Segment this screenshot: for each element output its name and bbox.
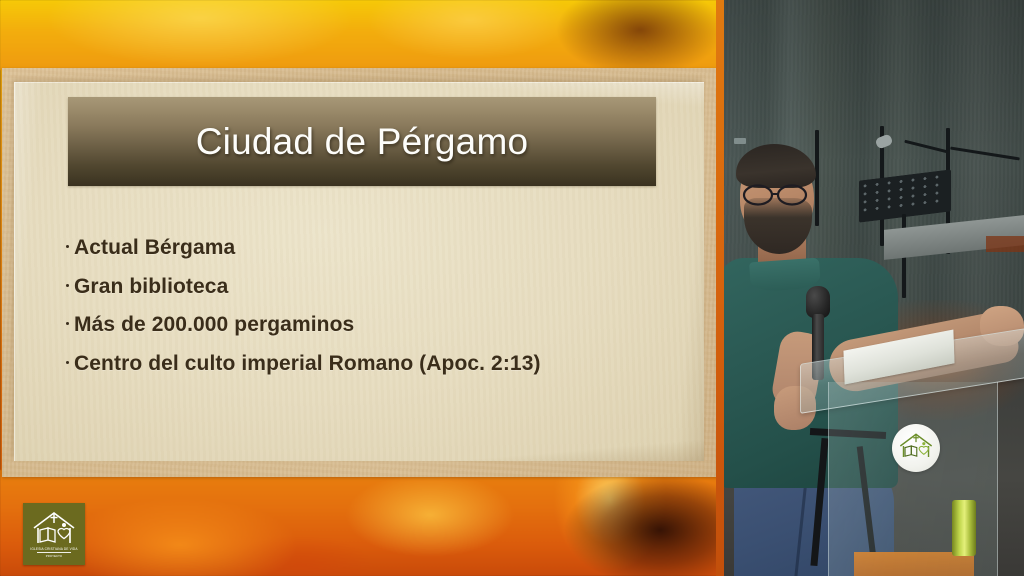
- fire-background-bottom-band: [0, 470, 718, 576]
- slide-title: Ciudad de Pérgamo: [196, 121, 529, 163]
- bullet-text: Gran biblioteca: [74, 275, 228, 299]
- logo-divider: [37, 552, 71, 553]
- list-item: Gran biblioteca: [60, 275, 660, 299]
- church-logo-name: IGLESIA CRISTIANA DE VIDA: [30, 547, 77, 551]
- bullet-dot-icon: [60, 352, 74, 372]
- fire-background-top-band: [0, 0, 718, 70]
- screen: Ciudad de Pérgamo Actual Bérgama Gran bi…: [0, 0, 1024, 576]
- bullet-dot-icon: [60, 313, 74, 333]
- church-logo: IGLESIA CRISTIANA DE VIDA PROYECTO: [23, 503, 85, 565]
- list-item: Centro del culto imperial Romano (Apoc. …: [60, 352, 660, 376]
- slide-bullet-list: Actual Bérgama Gran biblioteca Más de 20…: [60, 236, 660, 390]
- beverage-can: [952, 500, 976, 556]
- bullet-dot-icon: [60, 236, 74, 256]
- eyeglasses-icon: [742, 184, 816, 206]
- presentation-slide-region: Ciudad de Pérgamo Actual Bérgama Gran bi…: [0, 0, 718, 576]
- podium-church-logo: [892, 424, 940, 472]
- live-camera-feed[interactable]: [724, 0, 1024, 576]
- bullet-text: Centro del culto imperial Romano (Apoc. …: [74, 352, 541, 376]
- house-cross-book-heart-icon: [898, 431, 934, 466]
- list-item: Actual Bérgama: [60, 236, 660, 260]
- bullet-dot-icon: [60, 275, 74, 295]
- slide-frame: Ciudad de Pérgamo Actual Bérgama Gran bi…: [2, 68, 718, 477]
- house-cross-book-heart-icon: [31, 511, 77, 545]
- speaker-hair: [736, 144, 816, 188]
- panel-divider: [716, 0, 724, 576]
- bullet-text: Actual Bérgama: [74, 236, 235, 260]
- church-logo-subtitle: PROYECTO: [46, 554, 62, 558]
- slide-title-banner: Ciudad de Pérgamo: [68, 97, 656, 186]
- bullet-text: Más de 200.000 pergaminos: [74, 313, 354, 337]
- table-item: [986, 236, 1024, 252]
- acrylic-podium: [800, 346, 1024, 576]
- list-item: Más de 200.000 pergaminos: [60, 313, 660, 337]
